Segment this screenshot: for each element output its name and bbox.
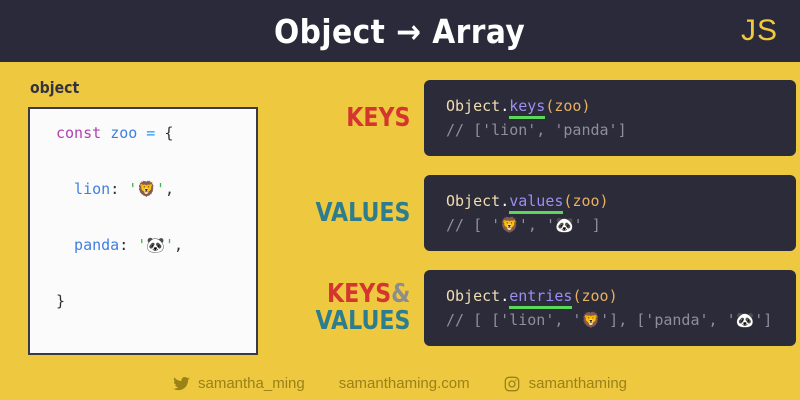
token-key: lion: [56, 180, 110, 198]
code-line-comment: // ['lion', 'panda']: [446, 118, 796, 142]
row-label-values: VALUES: [310, 200, 424, 226]
row-label-keys-part: KEYS: [327, 279, 391, 309]
code-line: lion: '🦁',: [56, 175, 183, 203]
footer-twitter[interactable]: samantha_ming: [173, 375, 305, 392]
infographic-card: Object → Array JS object const zoo = { l…: [0, 0, 800, 400]
code-line: }: [56, 287, 183, 315]
code-line-call: Object.values(zoo): [446, 189, 796, 213]
code-line-call: Object.keys(zoo): [446, 94, 796, 118]
code-line-call: Object.entries(zoo): [446, 284, 796, 308]
row-label-line-1: KEYS&: [310, 281, 410, 308]
token-quote: ': [165, 236, 174, 254]
language-badge: JS: [741, 14, 778, 48]
code-box-entries: Object.entries(zoo) // [ ['lion', '🦁'], …: [424, 270, 796, 346]
row-keys-and-values: KEYS& VALUES Object.entries(zoo) // [ ['…: [290, 270, 796, 346]
token-quote: ': [156, 180, 165, 198]
row-keys: KEYS Object.keys(zoo) // ['lion', 'panda…: [290, 80, 796, 156]
row-values: VALUES Object.values(zoo) // [ '🦁', '🐼' …: [290, 175, 796, 251]
instagram-handle: samanthaming: [529, 375, 627, 392]
token-object: Object: [446, 287, 500, 305]
token-operator: =: [137, 124, 164, 142]
code-line-comment: // [ ['lion', '🦁'], ['panda', '🐼']: [446, 308, 796, 332]
row-label-values-part: VALUES: [310, 308, 410, 335]
token-dot: .: [500, 192, 509, 210]
object-code: const zoo = { lion: '🦁', panda: '🐼', }: [30, 91, 183, 371]
token-punctuation: ,: [174, 236, 183, 254]
token-argument: zoo: [554, 97, 581, 115]
footer-instagram[interactable]: samanthaming: [504, 375, 627, 392]
website-url: samanthaming.com: [339, 375, 470, 392]
token-object: Object: [446, 192, 500, 210]
instagram-icon: [504, 375, 521, 392]
twitter-handle: samantha_ming: [198, 375, 305, 392]
token-argument: zoo: [581, 287, 608, 305]
token-brace: {: [164, 124, 173, 142]
footer-website[interactable]: samanthaming.com: [339, 375, 470, 392]
row-label-ampersand: &: [391, 279, 410, 309]
token-method-keys: keys: [509, 97, 545, 119]
object-code-box: const zoo = { lion: '🦁', panda: '🐼', }: [28, 107, 258, 355]
lion-emoji: 🦁: [137, 180, 156, 198]
twitter-icon: [173, 375, 190, 392]
token-brace: }: [56, 292, 65, 310]
token-punctuation: :: [110, 180, 128, 198]
token-key: panda: [56, 236, 119, 254]
panda-emoji: 🐼: [146, 236, 165, 254]
token-quote: ': [137, 236, 146, 254]
token-method-entries: entries: [509, 287, 572, 309]
token-close-paren: ): [581, 97, 590, 115]
token-variable: zoo: [110, 124, 137, 142]
token-quote: ': [128, 180, 137, 198]
token-object: Object: [446, 97, 500, 115]
page-title: Object → Array: [274, 12, 525, 51]
code-line-comment: // [ '🦁', '🐼' ]: [446, 213, 796, 237]
code-line: panda: '🐼',: [56, 231, 183, 259]
header-bar: Object → Array JS: [0, 0, 800, 62]
row-label-keys: KEYS: [310, 105, 424, 131]
token-method-values: values: [509, 192, 563, 214]
code-box-keys: Object.keys(zoo) // ['lion', 'panda']: [424, 80, 796, 156]
token-keyword: const: [56, 124, 110, 142]
token-punctuation: :: [119, 236, 137, 254]
token-punctuation: ,: [165, 180, 174, 198]
token-close-paren: ): [609, 287, 618, 305]
footer-bar: samantha_ming samanthaming.com samantham…: [0, 375, 800, 392]
token-close-paren: ): [600, 192, 609, 210]
code-line: const zoo = {: [56, 119, 183, 147]
token-argument: zoo: [572, 192, 599, 210]
token-dot: .: [500, 287, 509, 305]
row-label-keys-and-values: KEYS& VALUES: [310, 281, 424, 335]
token-dot: .: [500, 97, 509, 115]
code-box-values: Object.values(zoo) // [ '🦁', '🐼' ]: [424, 175, 796, 251]
